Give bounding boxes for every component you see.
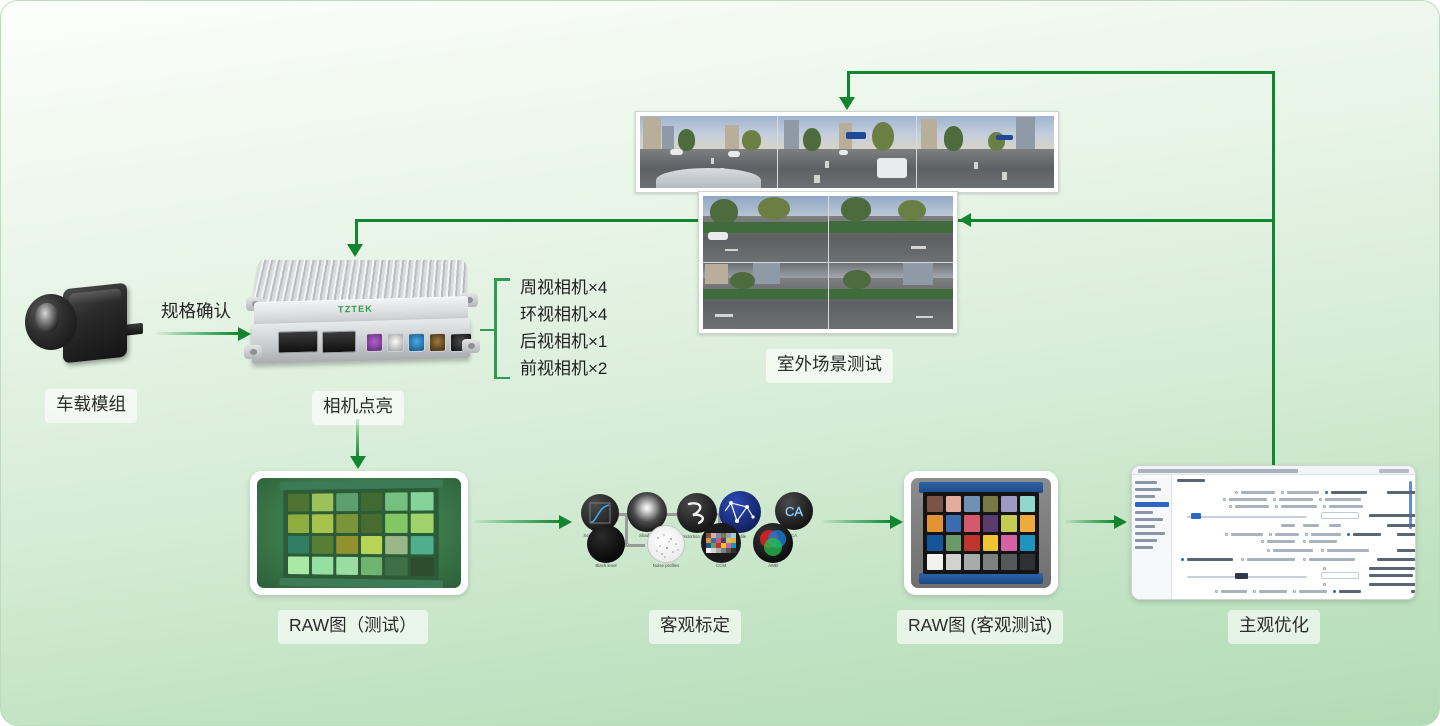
building bbox=[784, 120, 799, 149]
raw-test-patch-4 bbox=[385, 492, 407, 511]
outdoor-photo-surround-right-rear bbox=[829, 263, 954, 329]
building bbox=[921, 119, 937, 149]
radio-option[interactable] bbox=[1323, 505, 1326, 508]
feedback-arrow-into-outdoor-top bbox=[839, 97, 855, 110]
radio-option[interactable] bbox=[1261, 540, 1264, 543]
caption-camera-module: 车载模组 bbox=[45, 389, 137, 423]
raw-test-patch-17 bbox=[411, 536, 434, 555]
colorchecker-patch-21 bbox=[983, 554, 999, 570]
ecu-controller-image: TZTEK bbox=[246, 259, 478, 374]
colorchecker-patch-2 bbox=[964, 496, 980, 512]
arrow-shaft bbox=[1065, 520, 1115, 523]
caption-raw-test: RAW图（测试） bbox=[278, 610, 428, 644]
building bbox=[643, 117, 661, 149]
awb-label: AWB bbox=[768, 563, 778, 568]
caption-objective-calibration: 客观标定 bbox=[649, 610, 741, 644]
field-name bbox=[1369, 583, 1416, 586]
lane-marking bbox=[711, 158, 714, 164]
panel-heading bbox=[1177, 479, 1205, 482]
arrow-rawobjective-to-subjective bbox=[1065, 511, 1127, 533]
sidebar-item-reg-list[interactable] bbox=[1135, 546, 1153, 549]
ccm-node bbox=[701, 523, 741, 563]
raw-test-patch-grid bbox=[288, 492, 434, 576]
vehicle-hood bbox=[656, 168, 760, 188]
raw-test-patch-0 bbox=[288, 494, 309, 512]
ecu-mount-ear-front-left bbox=[244, 345, 262, 359]
option-label bbox=[1311, 533, 1341, 536]
arrow-rawtest-to-calibration bbox=[474, 511, 572, 533]
edge-label-spec-confirm: 规格确认 bbox=[161, 298, 231, 323]
outdoor-photo-front-left bbox=[640, 116, 777, 188]
raw-test-patch-23 bbox=[411, 557, 434, 576]
tree bbox=[758, 197, 790, 219]
car bbox=[708, 232, 728, 240]
road bbox=[703, 278, 828, 329]
option-label bbox=[1331, 491, 1367, 494]
scrollbar-thumb[interactable] bbox=[1409, 481, 1412, 529]
bracket-top bbox=[494, 278, 510, 281]
option-label bbox=[1309, 540, 1337, 543]
caption-outdoor-test: 室外场景测试 bbox=[766, 349, 893, 383]
colorchecker-board bbox=[923, 492, 1039, 574]
raw-test-patch-11 bbox=[411, 514, 434, 533]
raw-test-patch-5 bbox=[411, 492, 434, 511]
feedback-hline-top bbox=[847, 71, 1274, 74]
caption-subjective-optimization: 主观优化 bbox=[1228, 610, 1320, 644]
slider-knob-1[interactable] bbox=[1191, 513, 1201, 519]
tree bbox=[678, 129, 694, 151]
option-label bbox=[1231, 533, 1263, 536]
radio-option[interactable] bbox=[1229, 505, 1232, 508]
colorchecker-patch-grid bbox=[927, 496, 1035, 570]
option-label bbox=[1259, 590, 1287, 593]
sidebar-item-sensor-2[interactable] bbox=[1135, 539, 1157, 542]
option-label bbox=[1287, 491, 1319, 494]
sidebar-item-sensor[interactable] bbox=[1135, 495, 1155, 498]
colorchecker-patch-20 bbox=[964, 554, 980, 570]
slider-track-1[interactable] bbox=[1187, 516, 1307, 518]
colorchecker-patch-13 bbox=[946, 535, 962, 551]
sidebar-item-status[interactable] bbox=[1135, 525, 1155, 528]
raw-objective-screen bbox=[911, 478, 1051, 588]
lane-marking bbox=[814, 175, 819, 183]
feedback-arrow-into-ecu bbox=[347, 244, 363, 257]
arrow-camera-to-ecu bbox=[156, 323, 251, 345]
raw-test-patch-3 bbox=[360, 493, 382, 512]
car bbox=[839, 150, 849, 155]
chart-bottom-bar bbox=[279, 578, 442, 588]
svg-text:CA: CA bbox=[785, 504, 803, 519]
colorchecker-patch-0 bbox=[927, 496, 943, 512]
hedge bbox=[829, 221, 954, 233]
road-sign bbox=[846, 132, 867, 139]
radio-option[interactable] bbox=[1267, 549, 1270, 552]
lane-marking bbox=[911, 246, 926, 249]
outdoor-top-grid bbox=[640, 116, 1054, 188]
option-label bbox=[1281, 524, 1295, 527]
lane-marking bbox=[715, 314, 732, 317]
awb-node bbox=[753, 523, 793, 563]
colorchecker-patch-3 bbox=[983, 496, 999, 512]
raw-test-patch-20 bbox=[336, 557, 358, 575]
ecu-port-purple bbox=[366, 333, 383, 352]
tree bbox=[803, 128, 821, 151]
raw-test-screen bbox=[257, 478, 461, 588]
building bbox=[1016, 117, 1035, 149]
option-label bbox=[1325, 498, 1361, 501]
radio-option[interactable] bbox=[1225, 533, 1228, 536]
option-label bbox=[1273, 549, 1313, 552]
arrow-shaft bbox=[823, 520, 891, 523]
colorchecker-patch-11 bbox=[1020, 515, 1036, 531]
caption-raw-objective: RAW图 (客观测试) bbox=[897, 610, 1063, 644]
colorchecker-patch-18 bbox=[927, 554, 943, 570]
camera-list-item-1: 环视相机×4 bbox=[520, 301, 607, 328]
option-label bbox=[1187, 558, 1233, 561]
tree bbox=[710, 199, 737, 224]
road-sign bbox=[996, 135, 1012, 141]
arrow-head bbox=[559, 515, 572, 529]
app-main-panel bbox=[1173, 475, 1415, 599]
ecu-brand-text: TZTEK bbox=[338, 304, 373, 315]
field-name bbox=[1387, 524, 1416, 527]
raw-test-patch-8 bbox=[336, 514, 358, 532]
ecu-port-blue bbox=[408, 333, 425, 352]
value-input-1[interactable] bbox=[1321, 512, 1359, 519]
tree bbox=[872, 122, 894, 151]
tree bbox=[944, 126, 963, 150]
raw-test-patch-9 bbox=[360, 514, 382, 532]
tree bbox=[841, 197, 871, 221]
chart-bottom-bar-blue bbox=[919, 573, 1043, 584]
radio-option[interactable] bbox=[1269, 533, 1272, 536]
colorchecker-patch-9 bbox=[983, 515, 999, 531]
radio-option-selected[interactable] bbox=[1181, 558, 1184, 561]
tree bbox=[730, 272, 755, 289]
arrow-head bbox=[890, 515, 903, 529]
camera-list-item-2: 后视相机×1 bbox=[520, 328, 607, 355]
camera-lens bbox=[35, 303, 59, 333]
colorchecker-patch-5 bbox=[1020, 496, 1036, 512]
raw-test-patch-15 bbox=[360, 536, 382, 554]
sidebar-item-selftest[interactable] bbox=[1135, 481, 1157, 484]
option-label bbox=[1267, 540, 1295, 543]
field-name bbox=[1369, 567, 1415, 570]
slider-knob-2[interactable] bbox=[1235, 573, 1248, 579]
tree bbox=[843, 270, 870, 290]
value-input-2[interactable] bbox=[1321, 572, 1359, 579]
camera-list-item-3: 前视相机×2 bbox=[520, 355, 607, 382]
radio-option-selected[interactable] bbox=[1325, 491, 1328, 494]
option-label bbox=[1229, 498, 1267, 501]
colorchecker-patch-16 bbox=[1001, 535, 1017, 551]
option-label bbox=[1235, 505, 1269, 508]
outdoor-lower-grid-frame bbox=[698, 191, 958, 334]
raw-test-patch-19 bbox=[312, 556, 333, 574]
radio-option[interactable] bbox=[1253, 590, 1256, 593]
colorchecker-patch-6 bbox=[927, 515, 943, 531]
colorchecker-patch-14 bbox=[964, 535, 980, 551]
raw-test-patch-21 bbox=[360, 557, 382, 576]
noise-node bbox=[647, 525, 685, 563]
ecu-connector-b bbox=[322, 331, 356, 354]
field-name bbox=[1377, 558, 1416, 561]
raw-test-patch-13 bbox=[312, 535, 333, 553]
feedback-vline-right bbox=[1272, 71, 1275, 471]
raw-test-patch-2 bbox=[336, 493, 358, 511]
option-label bbox=[1309, 558, 1355, 561]
option-label bbox=[1303, 524, 1319, 527]
raw-objective-monitor bbox=[904, 471, 1058, 595]
option-label bbox=[1275, 533, 1299, 536]
radio-option[interactable] bbox=[1293, 590, 1296, 593]
radio-option[interactable] bbox=[1235, 491, 1238, 494]
app-sidebar[interactable] bbox=[1132, 475, 1172, 599]
car bbox=[877, 158, 907, 178]
ecu-port-white bbox=[387, 333, 404, 352]
sidebar-item-general[interactable] bbox=[1135, 488, 1161, 491]
colorchecker-patch-12 bbox=[927, 535, 943, 551]
field-name bbox=[1387, 491, 1416, 494]
radio-option-selected[interactable] bbox=[1333, 590, 1336, 593]
colorchecker-patch-1 bbox=[946, 496, 962, 512]
raw-test-patch-7 bbox=[312, 514, 333, 532]
tuning-software-window[interactable] bbox=[1131, 465, 1416, 600]
calibration-pipeline-graph: Sensor response Shading Distortion & blu… bbox=[573, 489, 821, 571]
car bbox=[670, 149, 682, 155]
field-name bbox=[1369, 514, 1416, 517]
outdoor-photo-surround-right-front bbox=[829, 196, 954, 262]
ccm-chart-icon bbox=[706, 533, 736, 553]
building bbox=[705, 264, 727, 284]
radio-option[interactable] bbox=[1241, 558, 1244, 561]
building bbox=[662, 126, 674, 149]
black-level-node bbox=[587, 525, 625, 563]
colorchecker-patch-15 bbox=[983, 535, 999, 551]
option-label bbox=[1329, 524, 1341, 527]
radio-option[interactable] bbox=[1275, 505, 1278, 508]
lane-marking bbox=[974, 162, 978, 169]
option-label bbox=[1247, 558, 1295, 561]
hedge bbox=[829, 289, 954, 298]
arrow-head bbox=[350, 456, 366, 469]
outdoor-photo-front-center bbox=[778, 116, 915, 188]
noise-label: Noise profiles bbox=[653, 563, 680, 568]
lane-marking bbox=[825, 161, 829, 168]
outdoor-lower-grid bbox=[703, 196, 953, 329]
radio-option[interactable] bbox=[1303, 540, 1306, 543]
lane-marking bbox=[916, 316, 933, 319]
field-name bbox=[1397, 549, 1416, 552]
radio-option[interactable] bbox=[1223, 498, 1226, 501]
tree bbox=[742, 130, 761, 150]
noise-grain-icon bbox=[648, 526, 686, 564]
colorchecker-patch-17 bbox=[1020, 535, 1036, 551]
radio-option-selected[interactable] bbox=[1347, 533, 1350, 536]
colorchecker-patch-4 bbox=[1001, 496, 1017, 512]
bracket-stem bbox=[480, 329, 496, 332]
tree bbox=[898, 200, 925, 221]
colorchecker-patch-10 bbox=[1001, 515, 1017, 531]
colorchecker-patch-23 bbox=[1020, 554, 1036, 570]
option-label bbox=[1221, 590, 1247, 593]
raw-test-patch-16 bbox=[385, 536, 407, 555]
radio-option[interactable] bbox=[1319, 498, 1322, 501]
camera-module-image bbox=[21, 276, 151, 371]
raw-test-patch-18 bbox=[288, 556, 309, 574]
radio-option[interactable] bbox=[1323, 567, 1326, 570]
radio-option[interactable] bbox=[1321, 549, 1324, 552]
field-name bbox=[1397, 533, 1416, 536]
road bbox=[917, 149, 1054, 188]
colorchecker-patch-7 bbox=[946, 515, 962, 531]
ecu-connector-a bbox=[278, 330, 318, 353]
raw-test-patch-14 bbox=[336, 535, 358, 553]
bracket-bottom bbox=[494, 377, 510, 380]
raw-test-patch-12 bbox=[288, 535, 309, 553]
sidebar-item-image[interactable] bbox=[1135, 511, 1153, 514]
sidebar-item-ext-modules[interactable] bbox=[1135, 532, 1165, 535]
chart-top-bar bbox=[279, 480, 442, 491]
arrow-shaft bbox=[474, 520, 560, 523]
option-label bbox=[1299, 590, 1327, 593]
colorchecker-patch-22 bbox=[1001, 554, 1017, 570]
arrow-calibration-to-rawobjective bbox=[823, 511, 903, 533]
camera-list-item-0: 周视相机×4 bbox=[520, 274, 607, 301]
arrow-shaft bbox=[156, 332, 239, 335]
rgb-venn-icon bbox=[753, 523, 793, 563]
app-titlebar-tabs bbox=[1138, 469, 1298, 473]
outdoor-top-strip bbox=[635, 111, 1059, 193]
option-label bbox=[1353, 533, 1381, 536]
building bbox=[753, 263, 780, 284]
option-label bbox=[1241, 491, 1275, 494]
raw-test-monitor bbox=[250, 471, 468, 595]
option-label bbox=[1327, 549, 1369, 552]
radio-option[interactable] bbox=[1281, 491, 1284, 494]
arrow-shaft bbox=[356, 419, 359, 457]
lane-marking bbox=[725, 249, 737, 252]
feedback-arrow-into-outdoor-mid bbox=[959, 213, 971, 227]
arrow-ecu-to-raw-test bbox=[347, 419, 369, 469]
car bbox=[728, 151, 740, 157]
ecu-port-brown bbox=[429, 333, 446, 352]
ccm-label: CCM bbox=[716, 563, 726, 568]
colorchecker-patch-8 bbox=[964, 515, 980, 531]
raw-test-patch-22 bbox=[385, 557, 407, 576]
radio-option[interactable] bbox=[1303, 558, 1306, 561]
sidebar-item-sequences[interactable] bbox=[1135, 518, 1163, 521]
camera-count-list: 周视相机×4 环视相机×4 后视相机×1 前视相机×2 bbox=[520, 274, 607, 382]
radio-option[interactable] bbox=[1323, 583, 1326, 586]
raw-test-patch-1 bbox=[312, 493, 333, 511]
outdoor-photo-surround-left-rear bbox=[703, 263, 828, 329]
building bbox=[903, 263, 933, 285]
ecu-mount-ear-front-right bbox=[462, 339, 480, 353]
option-label bbox=[1281, 505, 1317, 508]
option-label bbox=[1339, 590, 1361, 593]
field-name bbox=[1369, 574, 1413, 577]
option-label bbox=[1329, 505, 1363, 508]
option-label bbox=[1279, 498, 1313, 501]
building bbox=[725, 125, 739, 149]
hedge bbox=[703, 289, 828, 298]
black-level-label: Black level bbox=[596, 563, 617, 568]
radio-option[interactable] bbox=[1305, 533, 1308, 536]
edge-dot bbox=[626, 543, 629, 546]
raw-test-patch-6 bbox=[288, 515, 309, 533]
sidebar-item-system[interactable] bbox=[1135, 502, 1169, 507]
radio-option[interactable] bbox=[1273, 498, 1276, 501]
arrow-head bbox=[1114, 515, 1127, 529]
colorchecker-patch-19 bbox=[946, 554, 962, 570]
diagram-canvas: 车载模组 规格确认 TZTEK 相机点亮 周视相机×4 环视相机×4 后视相机×… bbox=[0, 0, 1440, 726]
outdoor-photo-surround-left-front bbox=[703, 196, 828, 262]
outdoor-photo-front-right bbox=[917, 116, 1054, 188]
lane-marking bbox=[1002, 172, 1007, 180]
radio-option[interactable] bbox=[1215, 590, 1218, 593]
field-name bbox=[1411, 590, 1416, 593]
window-controls[interactable] bbox=[1379, 469, 1409, 473]
raw-test-patch-10 bbox=[385, 514, 407, 533]
raw-test-chart-board bbox=[283, 487, 439, 581]
